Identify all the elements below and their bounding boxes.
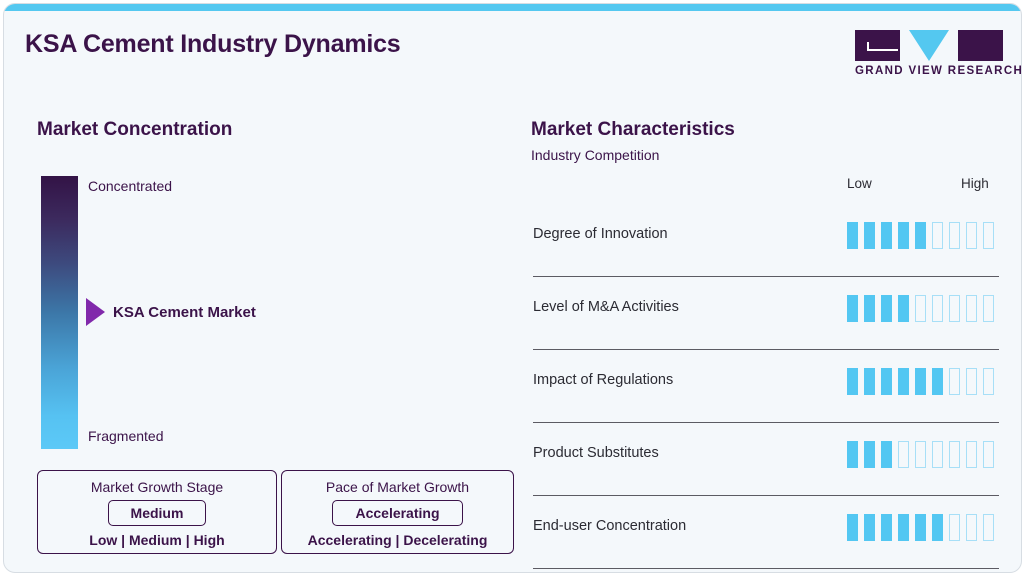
rating-segment-filled xyxy=(881,295,892,322)
rating-segment-empty xyxy=(966,368,977,395)
rating-segment-filled xyxy=(898,295,909,322)
pace-of-market-growth-options: Accelerating | Decelerating xyxy=(282,532,513,548)
rating-segment-filled xyxy=(932,368,943,395)
rating-segment-empty xyxy=(949,514,960,541)
market-growth-stage-value-wrap: Medium xyxy=(38,500,276,526)
rating-segment-filled xyxy=(881,222,892,249)
characteristic-label: Level of M&A Activities xyxy=(533,299,679,315)
scale-head-high: High xyxy=(961,176,989,191)
scale-label-concentrated: Concentrated xyxy=(88,178,172,194)
row-divider xyxy=(533,568,999,569)
logo-left-horizontal-line xyxy=(867,49,898,51)
rating-segment-empty xyxy=(915,441,926,468)
rating-segment-empty xyxy=(949,295,960,322)
rating-segment-empty xyxy=(966,441,977,468)
page-title: KSA Cement Industry Dynamics xyxy=(25,30,401,59)
logo-triangle-icon xyxy=(909,30,949,61)
grand-view-research-logo: GRAND VIEW RESEARCH xyxy=(855,30,1003,80)
rating-segment-filled xyxy=(881,514,892,541)
pace-of-market-growth-heading: Pace of Market Growth xyxy=(282,479,513,495)
rating-segment-empty xyxy=(949,368,960,395)
market-growth-stage-heading: Market Growth Stage xyxy=(38,479,276,495)
market-growth-stage-box: Market Growth Stage Medium Low | Medium … xyxy=(37,470,277,554)
pace-of-market-growth-value-wrap: Accelerating xyxy=(282,500,513,526)
infographic-card: KSA Cement Industry Dynamics GRAND VIEW … xyxy=(3,3,1022,573)
rating-segment-empty xyxy=(983,514,994,541)
top-accent-bar xyxy=(4,4,1021,11)
characteristic-rating-bars xyxy=(847,368,994,395)
pace-of-market-growth-box: Pace of Market Growth Accelerating Accel… xyxy=(281,470,514,554)
rating-segment-empty xyxy=(983,441,994,468)
rating-segment-filled xyxy=(881,368,892,395)
characteristic-row: Impact of Regulations xyxy=(533,350,999,423)
scale-label-fragmented: Fragmented xyxy=(88,428,163,444)
characteristic-rating-bars xyxy=(847,295,994,322)
pace-of-market-growth-value: Accelerating xyxy=(332,500,462,526)
characteristic-label: End-user Concentration xyxy=(533,518,686,534)
market-concentration-title: Market Concentration xyxy=(37,119,232,141)
logo-left-vertical-line xyxy=(867,42,869,51)
logo-marks xyxy=(855,30,1003,61)
rating-segment-empty xyxy=(932,222,943,249)
market-characteristics-title: Market Characteristics xyxy=(531,119,735,141)
rating-segment-empty xyxy=(966,295,977,322)
rating-segment-filled xyxy=(847,514,858,541)
rating-segment-empty xyxy=(949,222,960,249)
logo-left-rect-icon xyxy=(855,30,900,61)
rating-segment-empty xyxy=(949,441,960,468)
market-position-label: KSA Cement Market xyxy=(113,304,256,321)
rating-segment-empty xyxy=(966,514,977,541)
rating-segment-filled xyxy=(932,514,943,541)
rating-segment-filled xyxy=(881,441,892,468)
characteristic-rating-bars xyxy=(847,514,994,541)
rating-segment-filled xyxy=(915,368,926,395)
rating-segment-filled xyxy=(898,368,909,395)
rating-segment-filled xyxy=(915,222,926,249)
rating-segment-empty xyxy=(932,441,943,468)
logo-right-rect-icon xyxy=(958,30,1003,61)
rating-segment-filled xyxy=(847,368,858,395)
rating-segment-filled xyxy=(864,222,875,249)
rating-segment-filled xyxy=(898,222,909,249)
rating-segment-empty xyxy=(898,441,909,468)
rating-segment-filled xyxy=(915,514,926,541)
characteristic-row: End-user Concentration xyxy=(533,496,999,569)
rating-segment-empty xyxy=(932,295,943,322)
scale-head-low: Low xyxy=(847,176,872,191)
rating-segment-filled xyxy=(864,514,875,541)
market-growth-stage-options: Low | Medium | High xyxy=(38,532,276,548)
rating-segment-filled xyxy=(864,295,875,322)
characteristic-row: Level of M&A Activities xyxy=(533,277,999,350)
characteristic-label: Degree of Innovation xyxy=(533,226,668,242)
rating-segment-filled xyxy=(847,441,858,468)
market-characteristics-subtitle: Industry Competition xyxy=(531,147,659,163)
rating-segment-filled xyxy=(864,441,875,468)
characteristic-row: Product Substitutes xyxy=(533,423,999,496)
market-position-arrow-icon xyxy=(86,298,105,326)
characteristic-rating-bars xyxy=(847,222,994,249)
characteristic-row: Degree of Innovation xyxy=(533,204,999,277)
rating-segment-filled xyxy=(864,368,875,395)
logo-wordmark: GRAND VIEW RESEARCH xyxy=(855,65,1022,77)
characteristic-rating-bars xyxy=(847,441,994,468)
rating-segment-empty xyxy=(983,295,994,322)
characteristic-label: Product Substitutes xyxy=(533,445,659,461)
rating-segment-filled xyxy=(847,222,858,249)
rating-segment-filled xyxy=(898,514,909,541)
rating-segment-empty xyxy=(983,222,994,249)
concentration-gradient-scale xyxy=(41,176,78,449)
market-growth-stage-value: Medium xyxy=(108,500,207,526)
rating-segment-empty xyxy=(983,368,994,395)
rating-segment-empty xyxy=(966,222,977,249)
rating-segment-filled xyxy=(847,295,858,322)
rating-segment-empty xyxy=(915,295,926,322)
characteristic-label: Impact of Regulations xyxy=(533,372,673,388)
